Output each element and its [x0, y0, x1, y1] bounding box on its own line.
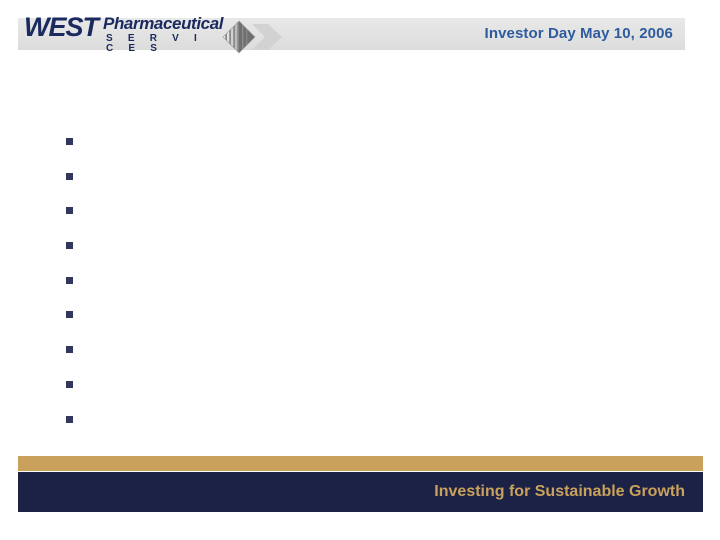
footer-tagline: Investing for Sustainable Growth: [434, 472, 685, 512]
footer-navy-bar: Investing for Sustainable Growth: [18, 472, 703, 512]
bullet-square-icon: [66, 242, 73, 249]
bullet-square-icon: [66, 381, 73, 388]
list-item: [66, 207, 666, 242]
list-item: [66, 416, 666, 451]
bullet-square-icon: [66, 277, 73, 284]
list-item: [66, 346, 666, 381]
presentation-slide: Investor Day May 10, 2006 WEST Pharmaceu…: [0, 0, 720, 540]
footer-gold-bar: [18, 456, 703, 471]
logo-pharmaceutical-text: Pharmaceutical: [103, 15, 223, 32]
bullet-square-icon: [66, 311, 73, 318]
list-item: [66, 138, 666, 173]
company-logo: WEST Pharmaceutical S E R V I C E S: [24, 12, 274, 52]
west-chevron-icon: [252, 24, 282, 50]
bullet-list: [66, 138, 666, 450]
logo-west-text: WEST: [24, 14, 98, 41]
west-diamond-icon: [222, 20, 256, 54]
logo-services-text: S E R V I C E S: [106, 34, 224, 54]
list-item: [66, 381, 666, 416]
list-item: [66, 311, 666, 346]
list-item: [66, 277, 666, 312]
logo-wordmark: WEST Pharmaceutical S E R V I C E S: [24, 12, 224, 52]
bullet-square-icon: [66, 138, 73, 145]
bullet-square-icon: [66, 416, 73, 423]
list-item: [66, 242, 666, 277]
header-title: Investor Day May 10, 2006: [485, 18, 673, 50]
list-item: [66, 173, 666, 208]
bullet-square-icon: [66, 173, 73, 180]
bullet-square-icon: [66, 207, 73, 214]
bullet-square-icon: [66, 346, 73, 353]
